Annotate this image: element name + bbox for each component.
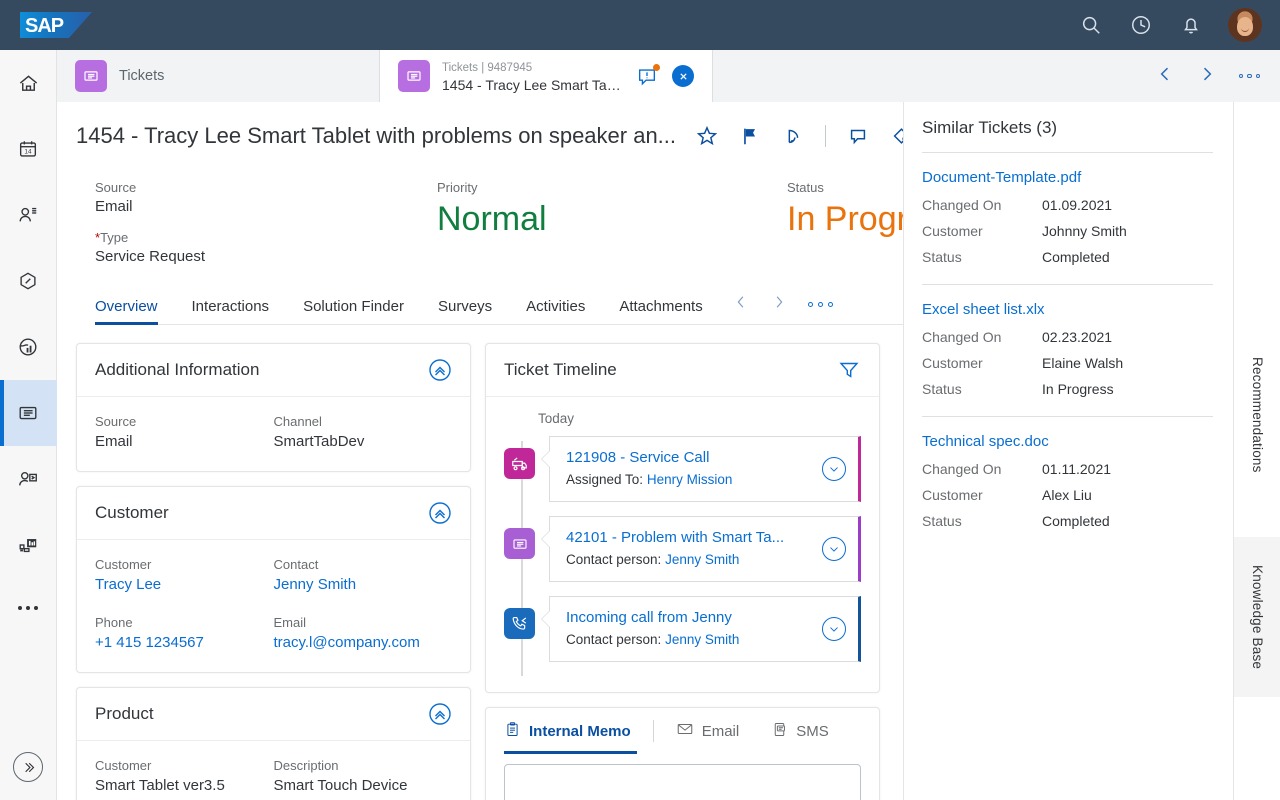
priority-value: Normal <box>437 196 787 242</box>
detail-row: CustomerJohnny Smith <box>922 218 1213 244</box>
timeline-item: 121908 - Service Call Assigned To: Henry… <box>504 436 861 502</box>
field-value: Smart Touch Device <box>274 775 453 797</box>
field-label: Contact <box>274 556 453 574</box>
chevron-left-icon[interactable] <box>732 293 750 316</box>
row-value: 02.23.2021 <box>1042 324 1112 350</box>
source-value: Email <box>95 196 437 217</box>
sidebar-expand-container <box>13 752 43 782</box>
svg-text:14: 14 <box>24 149 32 156</box>
section-tab-navigation <box>732 293 833 324</box>
timeline-bubble[interactable]: 121908 - Service Call Assigned To: Henry… <box>549 436 861 502</box>
tab-tickets-list[interactable]: Tickets <box>57 50 380 102</box>
card-header: Ticket Timeline <box>486 344 879 397</box>
clipboard-icon <box>504 721 521 742</box>
card-header: Product <box>77 688 470 741</box>
card-body: Customer Tracy Lee Contact Jenny Smith P… <box>77 540 470 672</box>
sidebar-item-home[interactable] <box>0 50 57 116</box>
timeline-sub-link[interactable]: Jenny Smith <box>665 632 739 647</box>
row-label: Customer <box>922 218 1042 244</box>
field-row: Phone +1 415 1234567 Email tracy.l@compa… <box>95 614 452 654</box>
row-value: In Progress <box>1042 376 1114 402</box>
sidebar-item-contacts[interactable] <box>0 182 57 248</box>
timeline-sub-label: Contact person: <box>566 552 661 567</box>
ticket-icon <box>504 528 535 559</box>
tab-label: 1454 - Tracy Lee Smart Tab... <box>442 76 624 94</box>
timeline-title-link[interactable]: 121908 - Service Call <box>566 449 709 466</box>
field-row: Source Email Channel SmartTabDev <box>95 413 452 453</box>
similar-tickets-panel: Similar Tickets (3) Document-Template.pd… <box>903 102 1233 800</box>
list-item: Technical spec.doc Changed On01.11.2021 … <box>922 417 1213 548</box>
timeline-sub-link[interactable]: Jenny Smith <box>665 552 739 567</box>
shell-bar: SAP <box>0 0 1280 50</box>
type-value: Service Request <box>95 246 437 267</box>
card-product: Product Customer Smart Tablet ver3.5 <box>76 687 471 800</box>
row-label: Changed On <box>922 456 1042 482</box>
tab-email[interactable]: Email <box>660 708 756 754</box>
card-header: Additional Information <box>77 344 470 397</box>
detail-row: StatusIn Progress <box>922 376 1213 402</box>
header-facet-priority: Priority Normal <box>437 179 787 267</box>
field-label: Email <box>274 614 453 632</box>
avatar[interactable] <box>1228 8 1262 42</box>
side-tab-knowledge-base[interactable]: Knowledge Base <box>1234 537 1280 697</box>
timeline-group-label: Today <box>538 411 861 426</box>
row-value: Elaine Walsh <box>1042 350 1123 376</box>
card-body: Customer Smart Tablet ver3.5 Description… <box>77 741 470 800</box>
collapse-icon[interactable] <box>428 501 452 525</box>
card-ticket-timeline: Ticket Timeline Today <box>485 343 880 693</box>
tab-actions <box>636 65 694 87</box>
side-tab-recommendations[interactable]: Recommendations <box>1234 292 1280 537</box>
comment-icon[interactable] <box>847 125 869 147</box>
row-label: Status <box>922 244 1042 270</box>
timeline-subtitle: Assigned To: Henry Mission <box>566 470 814 490</box>
detail-row: CustomerAlex Liu <box>922 482 1213 508</box>
logo-text: SAP <box>25 15 63 38</box>
card-additional-information: Additional Information Source Email <box>76 343 471 472</box>
field-value-link[interactable]: tracy.l@company.com <box>274 632 453 654</box>
tab-activities[interactable]: Activities <box>509 298 602 324</box>
side-navigation: 14 <box>0 50 57 800</box>
avatar-face <box>1237 17 1253 36</box>
tab-interactions[interactable]: Interactions <box>175 298 287 324</box>
memo-input[interactable] <box>504 764 861 800</box>
page-title: 1454 - Tracy Lee Smart Tablet with probl… <box>76 123 676 149</box>
shell-bar-actions <box>1078 8 1262 42</box>
row-value: 01.09.2021 <box>1042 192 1112 218</box>
object-page: 1454 - Tracy Lee Smart Tablet with probl… <box>57 102 1280 800</box>
similar-ticket-link[interactable]: Excel sheet list.xlx <box>922 301 1213 318</box>
field-row: Customer Tracy Lee Contact Jenny Smith <box>95 556 452 596</box>
tab-sms[interactable]: SMS <box>755 708 845 754</box>
tab-internal-memo[interactable]: Internal Memo <box>504 708 647 754</box>
field-value: SmartTabDev <box>274 431 453 453</box>
timeline-texts: 121908 - Service Call Assigned To: Henry… <box>566 447 814 490</box>
detail-row: Changed On01.11.2021 <box>922 456 1213 482</box>
chevron-down-icon[interactable] <box>822 537 846 561</box>
tab-ticket-detail[interactable]: Tickets | 9487945 1454 - Tracy Lee Smart… <box>380 50 713 102</box>
row-label: Customer <box>922 350 1042 376</box>
timeline-bubble[interactable]: Incoming call from Jenny Contact person:… <box>549 596 861 662</box>
divider <box>825 125 826 147</box>
field-label: Channel <box>274 413 453 431</box>
timeline-body: Today 121908 - Service Call Assigned To:… <box>486 397 879 692</box>
priority-label: Priority <box>437 179 787 196</box>
incoming-call-icon <box>504 608 535 639</box>
row-label: Status <box>922 376 1042 402</box>
alert-badge-dot <box>653 64 660 71</box>
row-value: 01.11.2021 <box>1042 456 1111 482</box>
sidebar-item-reports[interactable] <box>0 512 57 578</box>
field-label: Customer <box>95 757 274 775</box>
section-tab-bar: Overview Interactions Solution Finder Su… <box>95 289 940 325</box>
row-label: Changed On <box>922 324 1042 350</box>
card-title: Ticket Timeline <box>504 360 617 380</box>
panel-title: Similar Tickets (3) <box>922 118 1213 153</box>
timeline-item: 42101 - Problem with Smart Ta... Contact… <box>504 516 861 582</box>
title-action-icons <box>696 125 912 147</box>
header-facet-source-type: Source Email *Type Service Request <box>95 179 437 267</box>
field-value-link[interactable]: +1 415 1234567 <box>95 632 274 654</box>
field-email: Email tracy.l@company.com <box>274 614 453 654</box>
search-icon[interactable] <box>1078 12 1104 38</box>
expand-navigation-button[interactable] <box>13 752 43 782</box>
row-value: Johnny Smith <box>1042 218 1127 244</box>
recent-activity-icon[interactable] <box>1128 12 1154 38</box>
field-label: Description <box>274 757 453 775</box>
tab-strip-overflow-icon[interactable] <box>1239 74 1261 79</box>
row-label: Changed On <box>922 192 1042 218</box>
similar-ticket-link[interactable]: Document-Template.pdf <box>922 169 1213 186</box>
row-value: Completed <box>1042 508 1110 534</box>
detail-row: StatusCompleted <box>922 244 1213 270</box>
collapse-icon[interactable] <box>428 358 452 382</box>
sidebar-item-employees[interactable] <box>0 446 57 512</box>
ticket-tile-icon <box>75 60 107 92</box>
timeline-bubble[interactable]: 42101 - Problem with Smart Ta... Contact… <box>549 516 861 582</box>
field-value-link[interactable]: Tracy Lee <box>95 574 274 596</box>
timeline-subtitle: Contact person: Jenny Smith <box>566 550 814 570</box>
field-value: Email <box>95 431 274 453</box>
divider <box>653 720 654 742</box>
timeline-sub-link[interactable]: Henry Mission <box>647 472 733 487</box>
timeline-texts: Incoming call from Jenny Contact person:… <box>566 607 814 650</box>
overflow-icon <box>18 606 38 610</box>
card-memo: Internal Memo Email SMS <box>485 707 880 800</box>
sidebar-item-calendar[interactable]: 14 <box>0 116 57 182</box>
tab-strip-navigation <box>1155 50 1280 102</box>
tab-sublabel: Tickets | 9487945 <box>442 62 532 74</box>
field-value: Smart Tablet ver3.5 <box>95 775 274 797</box>
ticket-tile-icon <box>398 60 430 92</box>
field-label: Customer <box>95 556 274 574</box>
field-channel: Channel SmartTabDev <box>274 413 453 453</box>
card-customer: Customer Customer Tracy Lee Con <box>76 486 471 673</box>
envelope-icon <box>676 720 694 742</box>
close-icon[interactable] <box>672 65 694 87</box>
detail-row: CustomerElaine Walsh <box>922 350 1213 376</box>
row-label: Status <box>922 508 1042 534</box>
chevron-down-icon[interactable] <box>822 457 846 481</box>
list-item: Document-Template.pdf Changed On01.09.20… <box>922 153 1213 285</box>
flag-icon[interactable] <box>739 125 761 147</box>
field-product-description: Description Smart Touch Device <box>274 757 453 797</box>
list-item: Excel sheet list.xlx Changed On02.23.202… <box>922 285 1213 417</box>
memo-tab-bar: Internal Memo Email SMS <box>486 708 879 754</box>
window-tab-strip: Tickets Tickets | 9487945 1454 - Tracy L… <box>57 50 1280 102</box>
field-row: Customer Smart Tablet ver3.5 Description… <box>95 757 452 797</box>
timeline-item: Incoming call from Jenny Contact person:… <box>504 596 861 662</box>
type-label: *Type <box>95 229 437 246</box>
filter-icon[interactable] <box>837 358 861 382</box>
row-value: Completed <box>1042 244 1110 270</box>
tab-label: SMS <box>796 723 829 740</box>
chevron-left-icon[interactable] <box>1155 64 1175 89</box>
tab-surveys[interactable]: Surveys <box>421 298 509 324</box>
timeline-sub-label: Assigned To: <box>566 472 643 487</box>
field-contact: Contact Jenny Smith <box>274 556 453 596</box>
card-title: Additional Information <box>95 360 259 380</box>
tab-overview[interactable]: Overview <box>95 298 175 324</box>
row-value: Alex Liu <box>1042 482 1092 508</box>
sidebar-item-analytics[interactable] <box>0 314 57 380</box>
sidebar-item-products[interactable] <box>0 248 57 314</box>
detail-row: Changed On02.23.2021 <box>922 324 1213 350</box>
section-tab-overflow-icon[interactable] <box>808 302 833 307</box>
field-label: Source <box>95 413 274 431</box>
sms-icon <box>771 721 788 742</box>
field-label: Phone <box>95 614 274 632</box>
tab-label: Tickets <box>119 68 164 84</box>
chevron-right-icon[interactable] <box>1197 64 1217 89</box>
detail-row: StatusCompleted <box>922 508 1213 534</box>
card-title: Product <box>95 704 154 724</box>
timeline-texts: 42101 - Problem with Smart Ta... Contact… <box>566 527 814 570</box>
detail-row: Changed On01.09.2021 <box>922 192 1213 218</box>
tab-attachments[interactable]: Attachments <box>602 298 719 324</box>
row-label: Customer <box>922 482 1042 508</box>
type-label-text: Type <box>100 230 128 245</box>
chevron-right-icon[interactable] <box>770 293 788 316</box>
similar-ticket-link[interactable]: Technical spec.doc <box>922 433 1213 450</box>
timeline-title-link[interactable]: 42101 - Problem with Smart Ta... <box>566 529 784 546</box>
content-column-left: Additional Information Source Email <box>76 343 471 800</box>
sap-logo[interactable]: SAP <box>20 8 92 42</box>
field-phone: Phone +1 415 1234567 <box>95 614 274 654</box>
collapse-icon[interactable] <box>428 702 452 726</box>
source-label: Source <box>95 179 437 196</box>
side-content-tabs: Recommendations Knowledge Base <box>1233 102 1280 800</box>
tab-label-group: Tickets | 9487945 1454 - Tracy Lee Smart… <box>442 58 624 94</box>
favorite-star-icon[interactable] <box>696 125 718 147</box>
alert-message-icon[interactable] <box>636 65 658 87</box>
sap-fiori-app: SAP 14 <box>0 0 1280 800</box>
card-title: Customer <box>95 503 169 523</box>
feed-icon[interactable] <box>782 125 804 147</box>
tab-solution-finder[interactable]: Solution Finder <box>286 298 421 324</box>
sidebar-more-button[interactable] <box>0 578 57 638</box>
field-customer: Customer Tracy Lee <box>95 556 274 596</box>
sidebar-item-tickets[interactable] <box>0 380 57 446</box>
notifications-bell-icon[interactable] <box>1178 12 1204 38</box>
timeline-subtitle: Contact person: Jenny Smith <box>566 630 814 650</box>
field-value-link[interactable]: Jenny Smith <box>274 574 453 596</box>
timeline-sub-label: Contact person: <box>566 632 661 647</box>
field-product-customer: Customer Smart Tablet ver3.5 <box>95 757 274 797</box>
card-header: Customer <box>77 487 470 540</box>
tab-label: Internal Memo <box>529 723 631 740</box>
card-body: Source Email Channel SmartTabDev <box>77 397 470 471</box>
service-call-icon <box>504 448 535 479</box>
chevron-down-icon[interactable] <box>822 617 846 641</box>
timeline-title-link[interactable]: Incoming call from Jenny <box>566 609 732 626</box>
field-source: Source Email <box>95 413 274 453</box>
content-column-middle: Ticket Timeline Today <box>485 343 880 800</box>
tab-label: Email <box>702 723 740 740</box>
